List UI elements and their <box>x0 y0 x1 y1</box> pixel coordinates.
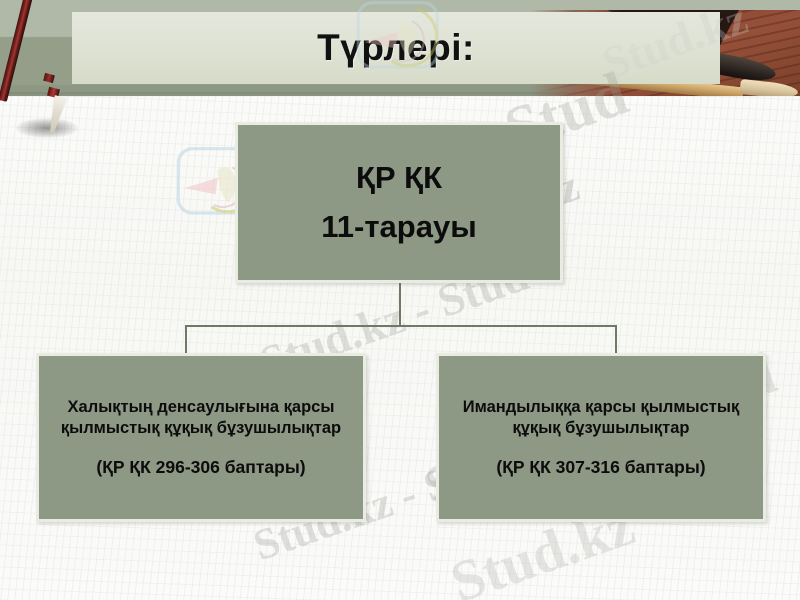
connector-horizontal-bus <box>185 325 617 327</box>
child-node-left-body: Халықтың денсаулығына қарсы қылмыстық құ… <box>49 397 353 440</box>
connector-drop-right <box>615 325 617 355</box>
connector-root-stem <box>399 283 401 327</box>
slide-canvas: Түрлері: Stud.kz - Stud Stud.kz Stud.kz … <box>0 0 800 600</box>
child-node-right-body: Имандылыққа қарсы қылмыстық құқық бұзушы… <box>449 397 753 440</box>
child-node-right-reference: (ҚР ҚК 307-316 баптары) <box>496 457 705 478</box>
diagram-root-node[interactable]: ҚР ҚК 11-тарауы <box>235 122 563 283</box>
page-title: Түрлері: <box>72 12 720 84</box>
connector-drop-left <box>185 325 187 355</box>
root-node-line-2: 11-тарауы <box>321 211 476 244</box>
pen-shadow <box>16 118 78 138</box>
diagram-child-node-right[interactable]: Имандылыққа қарсы қылмыстық құқық бұзушы… <box>436 353 766 522</box>
child-node-left-reference: (ҚР ҚК 296-306 баптары) <box>96 457 305 478</box>
diagram-child-node-left[interactable]: Халықтың денсаулығына қарсы қылмыстық құ… <box>36 353 366 522</box>
root-node-line-1: ҚР ҚК <box>356 162 442 195</box>
